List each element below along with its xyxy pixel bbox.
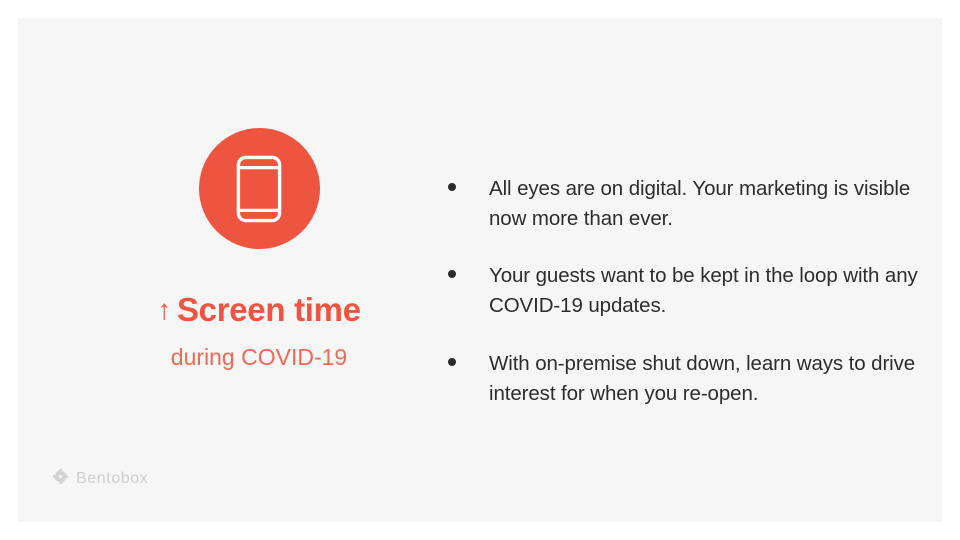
bullet-dot-icon [448, 358, 456, 366]
list-item: Your guests want to be kept in the loop … [448, 261, 928, 320]
icon-badge [199, 128, 320, 249]
slide-root: ↑Screen time during COVID-19 All eyes ar… [0, 0, 960, 540]
brand-logo-text: Bentobox [76, 471, 148, 487]
content-card: ↑Screen time during COVID-19 All eyes ar… [18, 18, 942, 522]
brand-logo: Bentobox [52, 468, 148, 490]
smartphone-icon [236, 155, 282, 223]
subheadline: during COVID-19 [78, 344, 440, 372]
list-item-text: All eyes are on digital. Your marketing … [489, 174, 928, 233]
list-item: All eyes are on digital. Your marketing … [448, 174, 928, 233]
list-item-text: With on-premise shut down, learn ways to… [489, 349, 928, 408]
bullet-dot-icon [448, 183, 456, 191]
headline: ↑Screen time [78, 292, 440, 328]
bentobox-pinwheel-icon [52, 468, 69, 490]
bullet-list: All eyes are on digital. Your marketing … [448, 174, 928, 408]
up-arrow-icon: ↑ [157, 294, 171, 325]
headline-text: Screen time [177, 291, 361, 328]
list-item: With on-premise shut down, learn ways to… [448, 349, 928, 408]
bullet-dot-icon [448, 270, 456, 278]
list-item-text: Your guests want to be kept in the loop … [489, 261, 928, 320]
left-column: ↑Screen time during COVID-19 [78, 128, 440, 372]
